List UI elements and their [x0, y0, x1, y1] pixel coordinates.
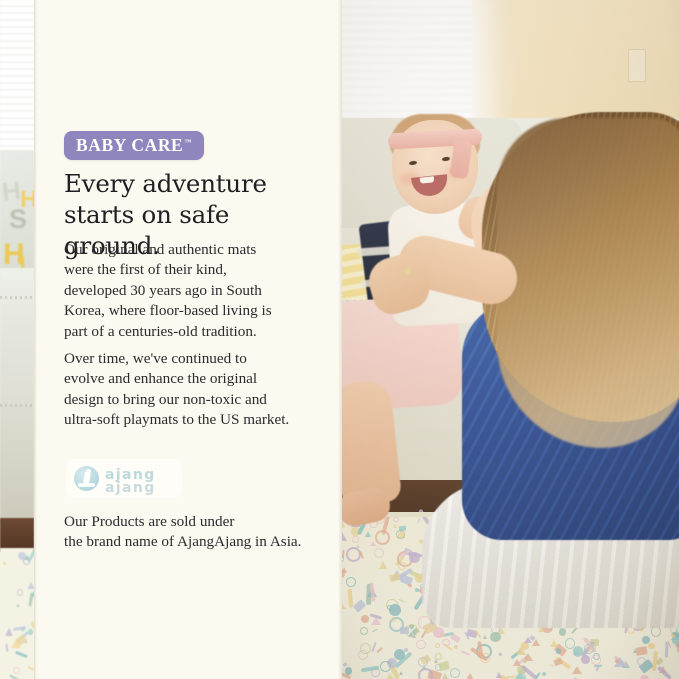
baby-care-logo-badge: BABY CARE™ — [64, 131, 204, 160]
trademark-symbol: ™ — [184, 138, 191, 146]
playmat-motif — [584, 644, 594, 654]
playmat-motif — [360, 643, 371, 654]
playmat-motif — [13, 626, 26, 631]
playmat-motif — [27, 666, 34, 673]
playmat-motif — [346, 547, 362, 563]
playmat-motif — [342, 600, 346, 609]
playmat-motif — [409, 552, 420, 563]
paragraph-line: the brand name of AjangAjang in Asia. — [64, 532, 312, 552]
playmat-motif — [553, 658, 563, 666]
headline-line-1: Every adventure — [64, 168, 324, 199]
playmat-motif — [516, 646, 526, 655]
ajang-circle-figure-icon — [74, 466, 99, 491]
playmat-motif — [496, 672, 502, 678]
playmat-motif — [466, 673, 474, 679]
playmat-motif — [490, 632, 501, 643]
playmat-motif — [581, 655, 590, 664]
ajang-wordmark-line-2: ajang — [105, 481, 156, 495]
paragraph-line: part of a centuries-old tradition. — [64, 322, 312, 342]
paragraph-line: Our Products are sold under — [64, 512, 312, 532]
playmat-motif — [346, 577, 356, 587]
paragraph-line: design to bring our non-toxic and — [64, 390, 312, 410]
playmat-motif — [27, 582, 34, 589]
playmat-motif — [416, 640, 425, 649]
playmat-motif — [398, 562, 407, 571]
playmat-motif — [450, 634, 461, 644]
playmat-motif — [442, 673, 448, 679]
text-panel: BABY CARE™ Every adventure starts on saf… — [34, 0, 342, 679]
playmat-motif — [352, 599, 366, 612]
playmat-motif — [352, 536, 359, 543]
playmat-motif — [361, 615, 369, 623]
playmat-motif — [591, 655, 601, 665]
wall-switch-plate — [628, 49, 646, 82]
playmat-motif — [418, 668, 433, 679]
panel-left-shadow — [34, 0, 37, 679]
paragraph-line: Korea, where floor-based living is — [64, 301, 312, 321]
playmat-motif — [640, 675, 649, 679]
left-wood-floor — [0, 518, 34, 552]
playmat-motif — [549, 665, 554, 668]
playmat-motif — [615, 659, 619, 663]
body-paragraph-asia-brand: Our Products are sold under the brand na… — [64, 512, 312, 553]
playmat-motif — [438, 661, 450, 671]
paragraph-line: developed 30 years ago in South — [64, 281, 312, 301]
playmat-motif — [365, 531, 371, 537]
playmat-motif — [399, 671, 403, 675]
left-sofa-base — [0, 376, 34, 522]
left-window-blinds — [0, 0, 34, 168]
playmat-motif — [415, 588, 419, 592]
playmat-motif — [376, 647, 382, 653]
playmat-motif — [5, 628, 13, 636]
playmat-motif — [499, 653, 503, 657]
lifestyle-photo — [342, 0, 679, 679]
playmat-motif — [11, 640, 21, 648]
playmat-motif — [513, 659, 521, 666]
playmat-motif — [347, 588, 352, 607]
body-paragraph-evolution: Over time, we've continued to evolve and… — [64, 349, 312, 431]
playmat-motif — [461, 651, 470, 656]
playmat-motif — [13, 667, 20, 674]
left-photo-strip: H H S H 1 — [0, 0, 34, 679]
playmat-motif — [524, 674, 526, 677]
playmat-motif — [379, 561, 387, 569]
playmat-motif — [6, 644, 9, 652]
pillow-letter-glyph: S — [9, 204, 27, 235]
playmat-motif — [435, 643, 440, 648]
wedding-ring — [404, 268, 411, 275]
playmat-motif — [523, 660, 526, 663]
playmat-motif — [396, 530, 405, 539]
playmat-motif — [360, 627, 368, 635]
playmat-motif — [3, 562, 7, 565]
playmat-motif — [550, 640, 558, 647]
mother-hair-foreground — [497, 118, 679, 448]
playmat-motif — [28, 629, 33, 634]
playmat-motif — [384, 673, 396, 679]
paragraph-line: were the first of their kind, — [64, 260, 312, 280]
playmat-motif — [393, 517, 399, 523]
figure-base-shape — [78, 483, 95, 487]
left-sofa-cushion — [0, 268, 34, 380]
playmat-motif — [422, 665, 426, 669]
body-paragraph-origin: Our original and authentic mats were the… — [64, 240, 312, 342]
paragraph-line: ultra-soft playmats to the US market. — [64, 410, 312, 430]
playmat-motif — [417, 517, 420, 523]
playmat-motif — [434, 659, 438, 663]
playmat-motif — [542, 672, 546, 676]
playmat-motif — [16, 604, 20, 607]
playmat-motif — [648, 643, 655, 650]
playmat-motif — [342, 662, 347, 667]
baby-care-logo-text: BABY CARE™ — [76, 137, 191, 155]
sofa-stitch-line — [0, 404, 34, 407]
playmat-motif — [380, 661, 391, 672]
sofa-stitch-line — [0, 296, 34, 299]
playmat-motif — [572, 666, 582, 674]
playmat-motif — [398, 598, 405, 602]
playmat-motif — [15, 651, 28, 658]
playmat-motif — [374, 548, 384, 558]
playmat-motif — [633, 649, 637, 653]
playmat-motif — [454, 645, 458, 649]
playmat-motif — [407, 583, 412, 587]
playmat-motif — [636, 647, 648, 656]
playmat-motif — [360, 551, 364, 559]
product-lifestyle-banner: H H S H 1 BABY CARE™ Every adventure sta… — [0, 0, 679, 679]
playmat-motif — [372, 628, 378, 632]
playmat-motif — [450, 668, 460, 678]
playmat-motif — [342, 532, 347, 541]
playmat-motif — [400, 626, 410, 633]
playmat-motif — [483, 635, 487, 639]
playmat-motif — [17, 589, 24, 596]
ajang-ajang-logo: ajang ajang — [66, 459, 182, 498]
paragraph-line: evolve and enhance the original — [64, 369, 312, 389]
playmat-motif — [9, 675, 20, 679]
paragraph-line: Over time, we've continued to — [64, 349, 312, 369]
paragraph-line: Our original and authentic mats — [64, 240, 312, 260]
left-playmat — [0, 548, 34, 679]
playmat-motif — [342, 569, 345, 577]
playmat-motif — [345, 667, 353, 675]
playmat-motif — [559, 628, 567, 636]
playmat-motif — [393, 524, 397, 528]
